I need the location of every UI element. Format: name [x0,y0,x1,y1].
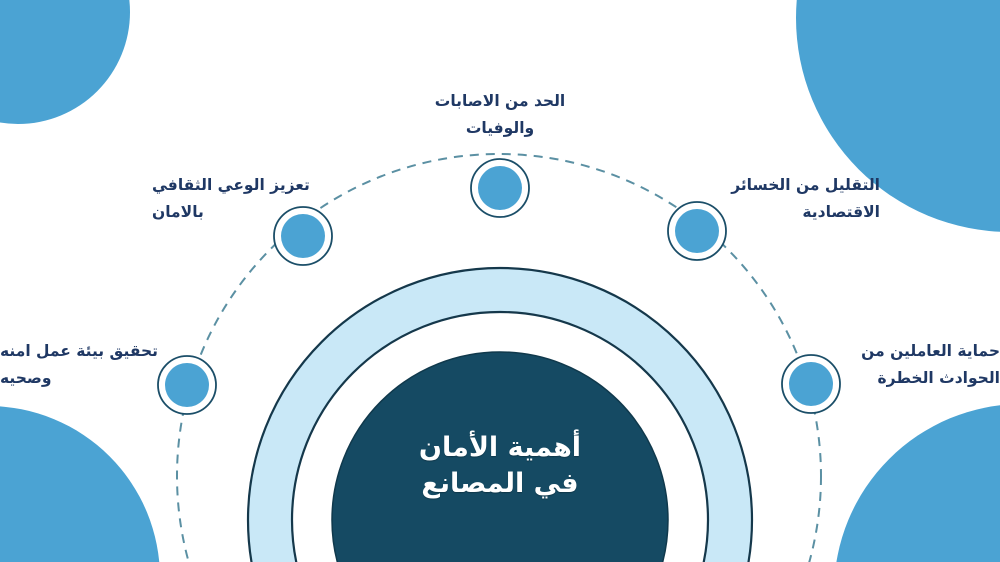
corner-circle-bottom-left [0,406,160,562]
node-label-left-upper-line-1: تعزيز الوعي الثقافي [152,172,324,199]
corner-circle-bottom-right [834,404,1000,562]
node-label-right-upper-line-2: الاقتصادية [700,199,880,226]
node-label-left-lower-line-2: وصحيه [0,365,170,392]
corner-circle-top-left [0,0,130,124]
node-label-right-lower-line-1: حماية العاملين من [836,338,1000,365]
node-label-right-lower-line-2: الحوادث الخطرة [836,365,1000,392]
node-label-left-lower: تحقيق بيئة عمل امنه وصحيه [0,338,170,392]
node-label-right-upper: التقليل من الخسائر الاقتصادية [700,172,880,226]
node-label-right-lower: حماية العاملين من الحوادث الخطرة [836,338,1000,392]
center-title: أهمية الأمان في المصانع [355,430,645,503]
node-label-left-lower-line-1: تحقيق بيئة عمل امنه [0,338,170,365]
node-label-top-line-2: والوفيات [400,115,600,142]
node-label-right-upper-line-1: التقليل من الخسائر [700,172,880,199]
infographic-canvas: أهمية الأمان في المصانع الحد من الاصابات… [0,0,1000,562]
node-label-left-upper: تعزيز الوعي الثقافي بالامان [152,172,324,226]
node-label-top-line-1: الحد من الاصابات [400,88,600,115]
center-title-line-2: في المصانع [355,466,645,502]
center-title-line-1: أهمية الأمان [355,430,645,466]
node-label-top: الحد من الاصابات والوفيات [400,88,600,142]
node-label-left-upper-line-2: بالامان [152,199,324,226]
